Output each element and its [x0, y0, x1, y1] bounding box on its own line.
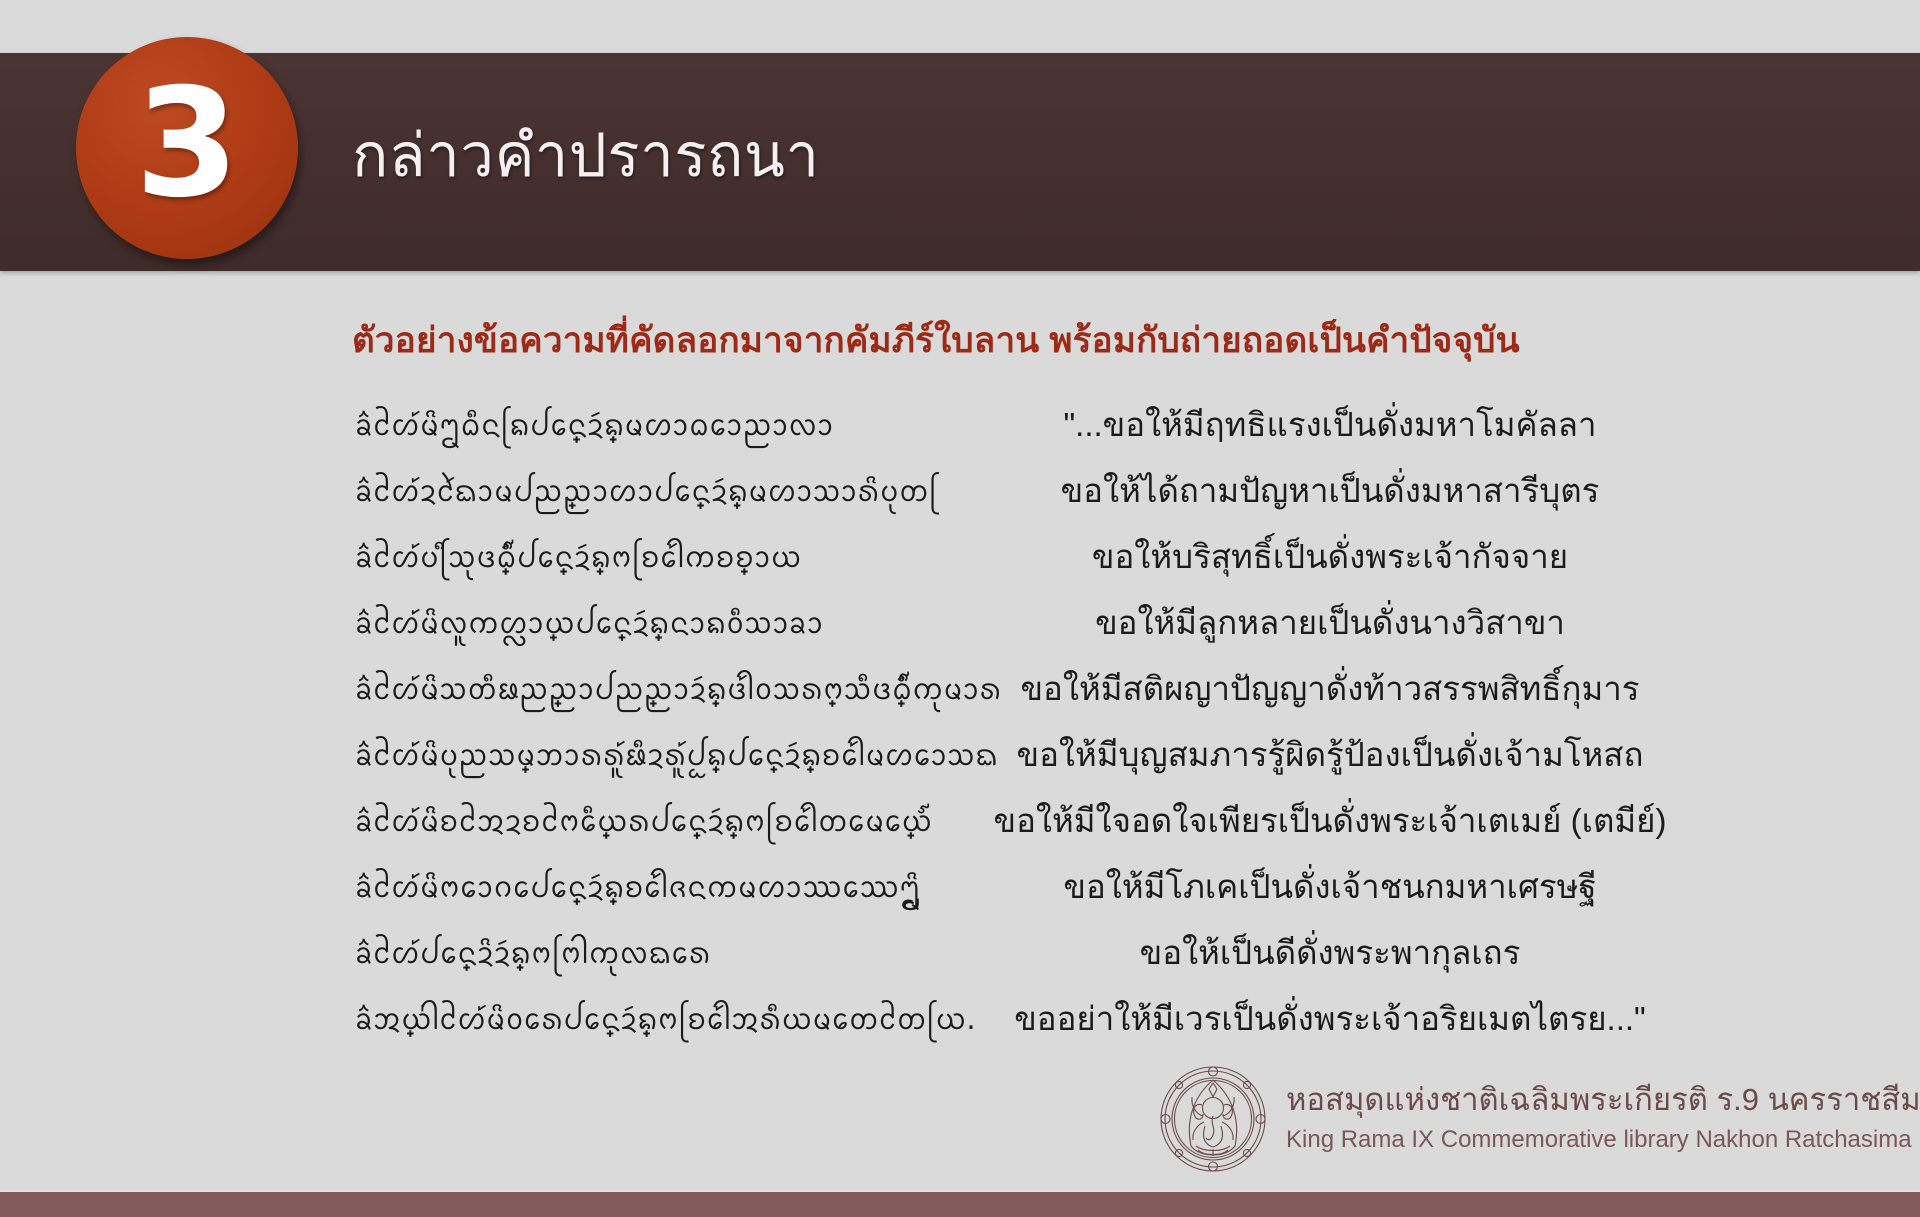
slide-canvas: กล่าวคำปรารถนา 3 ตัวอย่างข้อความที่คัดลอ… [0, 0, 1920, 1217]
bottom-accent-band [0, 1190, 1920, 1217]
transcription-line: ขอให้มีบุญสมภารรู้ผิดรู้ป้องเป็นดั่งเจ้า… [950, 722, 1710, 788]
manuscript-line: ᨡᩳᩲᩉ᩶ᨾᩦᨧᩲᩋᨯᨧᩲᨻᩮᩥ᩠ᨿᩁᨸᩮ᩠ᨶᨯᩢ᩠ᨦᨻᩕᨧᩮ᩶ᩤᨲᩮᨾᩮ᩠ᨿ᩼ [355, 788, 930, 854]
transcription-line: ขอให้มีโภเคเป็นดั่งเจ้าชนกมหาเศรษฐี [950, 854, 1710, 920]
section-number-label: 3 [135, 69, 239, 219]
manuscript-line: ᨡᩳᩲᩉ᩶ᨾᩦᨷᩩᨬᩈ᩠ᨾᨽᩣᩁᩁᩪ᩶ᨹᩥᨯᩁᩪ᩶ᨸᩬ᩠ᨦᨸᩮ᩠ᨶᨯᩢ᩠ᨦᨧᩮ᩶… [355, 722, 930, 788]
section-number-badge: 3 [76, 37, 298, 259]
library-name-thai: หอสมุดแห่งชาติเฉลิมพระเกียรติ ร.9 นครราช… [1286, 1081, 1920, 1120]
footer-logo-block: หอสมุดแห่งชาติเฉลิมพระเกียรติ ร.9 นครราช… [1158, 1058, 1818, 1180]
transcription-line: ขออย่าให้มีเวรเป็นดั่งพระเจ้าอริยเมตไตรย… [950, 986, 1710, 1052]
subtitle-caption: ตัวอย่างข้อความที่คัดลอกมาจากคัมภีร์ใบลา… [352, 313, 1520, 368]
transcription-line: ขอให้มีใจอดใจเพียรเป็นดั่งพระเจ้าเตเมย์ … [950, 788, 1710, 854]
page-title: กล่าวคำปรารถนา [352, 118, 820, 193]
transcription-column: "...ขอให้มีฤทธิแรงเป็นดั่งมหาโมคัลลา ขอใ… [930, 392, 1710, 1052]
transcription-line: ขอให้เป็นดีดั่งพระพากุลเถร [950, 920, 1710, 986]
transcription-line: ขอให้ได้ถามปัญหาเป็นดั่งมหาสารีบุตร [950, 458, 1710, 524]
manuscript-line: ᨡᩳᩲᩉ᩶ᨯᩱ᩶ᨳᩣᨾᨸᨬ᩠ᨬᩣᩉᩣᨸᩮ᩠ᨶᨯᩢ᩠ᨦᨾᩉᩣᩈᩣᩁᩦᨷᩩᨲᩕ [355, 458, 930, 524]
transcription-line: ขอให้บริสุทธิ์เป็นดั่งพระเจ้ากัจจาย [950, 524, 1710, 590]
manuscript-column: ᨡᩳᩲᩉ᩶ᨾᩦᩂᨵᩥᨶᩕᨦᨸᩮ᩠ᨶᨯᩢ᩠ᨦᨾᩉᩣᨵᩮᩣᨬᩣᩃᩣ ᨡᩳᩲᩉ᩶ᨯᩱ᩶… [330, 392, 930, 1052]
manuscript-line: ᨡᩳᩲᩉ᩶ᨾᩦᨻᩮᩣᨣᩮᨸᩮ᩠ᨶᨯᩢ᩠ᨦᨧᩮ᩶ᩤᨩᨶᨠᨾᩉᩣᩔᩮᩔᩂᩛᩦ [355, 854, 930, 920]
footer-text-block: หอสมุดแห่งชาติเฉลิมพระเกียรติ ร.9 นครราช… [1286, 1081, 1920, 1156]
library-name-english: King Rama IX Commemorative library Nakho… [1286, 1124, 1920, 1156]
manuscript-line: ᨡᩳᩲᩉ᩶ᨸᩮ᩠ᨶᨯᩦᨯᩢ᩠ᨦᨻᩕᨻᩤᨠᩩᩃᨳᩮᩁ [355, 920, 930, 986]
ganesha-seal-icon [1158, 1064, 1268, 1174]
transcription-line: ขอให้มีสติผญาปัญญาดั่งท้าวสรรพสิทธิ์กุมา… [950, 656, 1710, 722]
manuscript-line: ᨡᩳᩲᩉ᩶ᨾᩦᩈᨲᩥᨹᨬ᩠ᨬᩣᨸᨬ᩠ᨬᩣᨯᩢ᩠ᨦᨴ᩶ᩤᩅᩈᩁ᩠ᨻᩈᩥᨴ᩠ᨵᩥ᩼ᨠ… [355, 656, 930, 722]
content-columns: ᨡᩳᩲᩉ᩶ᨾᩦᩂᨵᩥᨶᩕᨦᨸᩮ᩠ᨶᨯᩢ᩠ᨦᨾᩉᩣᨵᩮᩣᨬᩣᩃᩣ ᨡᩳᩲᩉ᩶ᨯᩱ᩶… [330, 392, 1710, 1052]
transcription-line: ขอให้มีลูกหลายเป็นดั่งนางวิสาขา [950, 590, 1710, 656]
manuscript-line: ᨡᩳᩲᩉ᩶ᨾᩦᩃᩪᨠᩉᩖᩣ᩠ᨿᨸᩮ᩠ᨶᨯᩢ᩠ᨦᨶᩣᨦᩅᩥᩈᩣᨡᩣ [355, 590, 930, 656]
top-background-strip [0, 0, 1920, 53]
manuscript-line: ᨡᩳᩲᩉ᩶ᨷᩕᩥᩈᩩᨴ᩠ᨵᩥ᩼ᨸᩮ᩠ᨶᨯᩢ᩠ᨦᨻᩕᨧᩮ᩶ᩤᨠᨧ᩠ᨧᩣᨿ [355, 524, 930, 590]
transcription-line: "...ขอให้มีฤทธิแรงเป็นดั่งมหาโมคัลลา [950, 392, 1710, 458]
manuscript-line: ᨡᩳᩋ᩠ᨿ᩵ᩤᩲᩉ᩶ᨾᩦᩅᩮᩁᨸᩮ᩠ᨶᨯᩢ᩠ᨦᨻᩕᨧᩮ᩶ᩤᩋᩁᩥᨿᨾᩮᨲᩲᨲᩕᨿ… [355, 986, 930, 1052]
manuscript-line: ᨡᩳᩲᩉ᩶ᨾᩦᩂᨵᩥᨶᩕᨦᨸᩮ᩠ᨶᨯᩢ᩠ᨦᨾᩉᩣᨵᩮᩣᨬᩣᩃᩣ [355, 392, 930, 458]
